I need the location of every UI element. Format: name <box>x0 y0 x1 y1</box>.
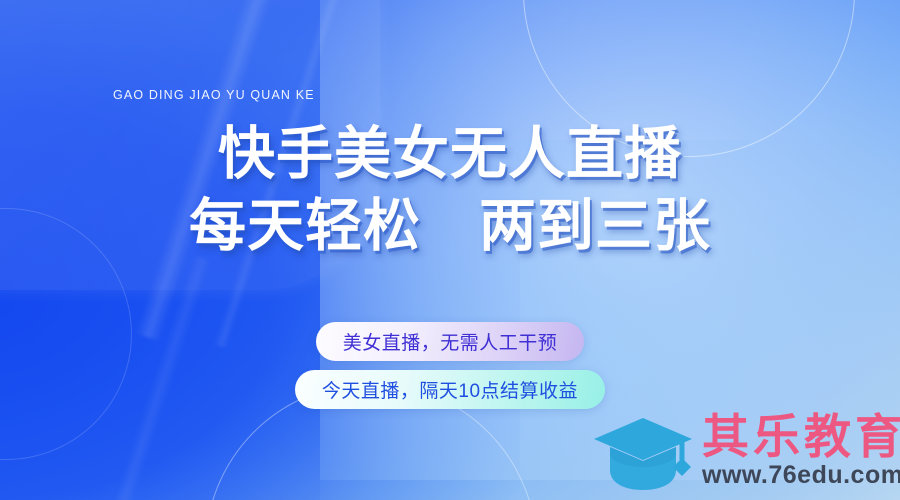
feature-badge-settlement: 今天直播，隔天10点结算收益 <box>295 370 605 409</box>
watermark-url: www.76edu.com <box>702 463 900 488</box>
headline-line-2: 每天轻松 两到三张 <box>0 190 900 262</box>
badge-list: 美女直播，无需人工干预 今天直播，隔天10点结算收益 <box>0 322 900 409</box>
pinyin-kicker: GAO DING JIAO YU QUAN KE <box>113 88 315 102</box>
graduation-cap-icon <box>592 414 696 492</box>
watermark-brand-name: 其乐教育 <box>702 413 900 461</box>
headline-block: 快手美女无人直播 每天轻松 两到三张 <box>0 118 900 262</box>
watermark-text-block: 其乐教育 www.76edu.com <box>702 413 900 494</box>
banner-content: GAO DING JIAO YU QUAN KE 快手美女无人直播 每天轻松 两… <box>0 0 900 500</box>
watermark-logo: 其乐教育 www.76edu.com <box>592 413 900 494</box>
feature-badge-no-staff: 美女直播，无需人工干预 <box>316 322 585 361</box>
headline-line-1: 快手美女无人直播 <box>0 118 900 190</box>
promo-banner: GAO DING JIAO YU QUAN KE 快手美女无人直播 每天轻松 两… <box>0 0 900 500</box>
